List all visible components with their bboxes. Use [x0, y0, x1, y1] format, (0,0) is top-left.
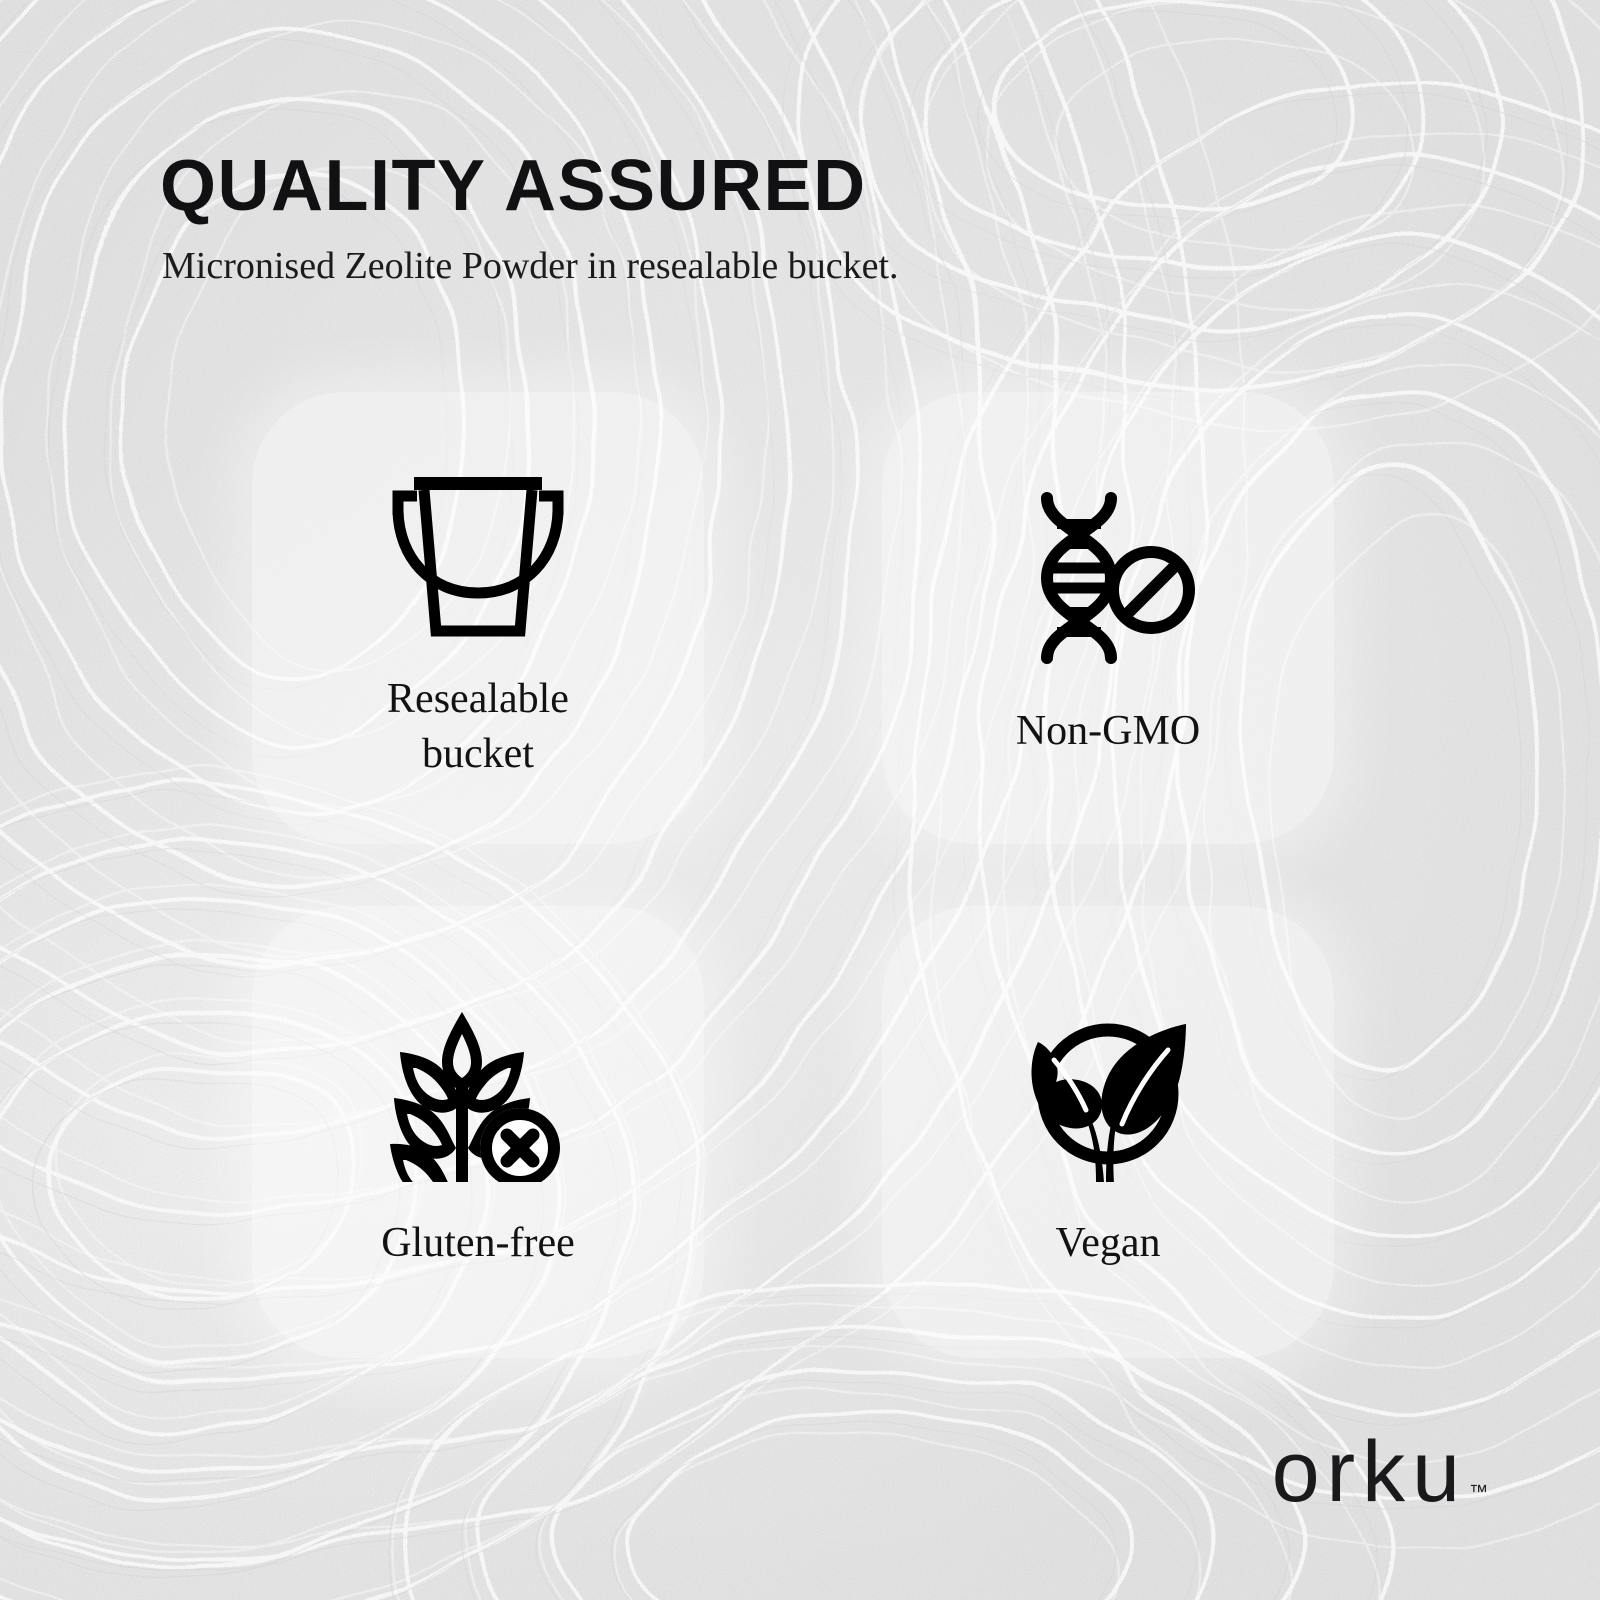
quality-assured-infographic: QUALITY ASSURED Micronised Zeolite Powde… [0, 0, 1600, 1600]
brand-logo: orku ™ [1272, 1433, 1488, 1512]
trademark-symbol: ™ [1469, 1482, 1488, 1504]
bucket-icon [390, 454, 566, 654]
feature-grid: Resealable bucket [252, 392, 1352, 1358]
page-title: QUALITY ASSURED [160, 150, 1460, 222]
feature-card-non-gmo: Non-GMO [882, 392, 1334, 844]
feature-label: Non-GMO [1016, 704, 1200, 759]
feature-label: Gluten-free [381, 1216, 575, 1271]
dna-no-gmo-icon [1017, 478, 1199, 678]
wheat-crossed-out-icon [390, 994, 566, 1194]
feature-label: Vegan [1056, 1216, 1161, 1271]
feature-card-resealable-bucket: Resealable bucket [252, 392, 704, 844]
brand-name: orku [1272, 1433, 1467, 1512]
feature-card-vegan: Vegan [882, 906, 1334, 1358]
feature-label: Resealable bucket [348, 672, 608, 781]
leaf-circle-icon [1018, 994, 1198, 1194]
header: QUALITY ASSURED Micronised Zeolite Powde… [160, 150, 1460, 290]
feature-card-gluten-free: Gluten-free [252, 906, 704, 1358]
page-subtitle: Micronised Zeolite Powder in resealable … [162, 244, 1460, 290]
